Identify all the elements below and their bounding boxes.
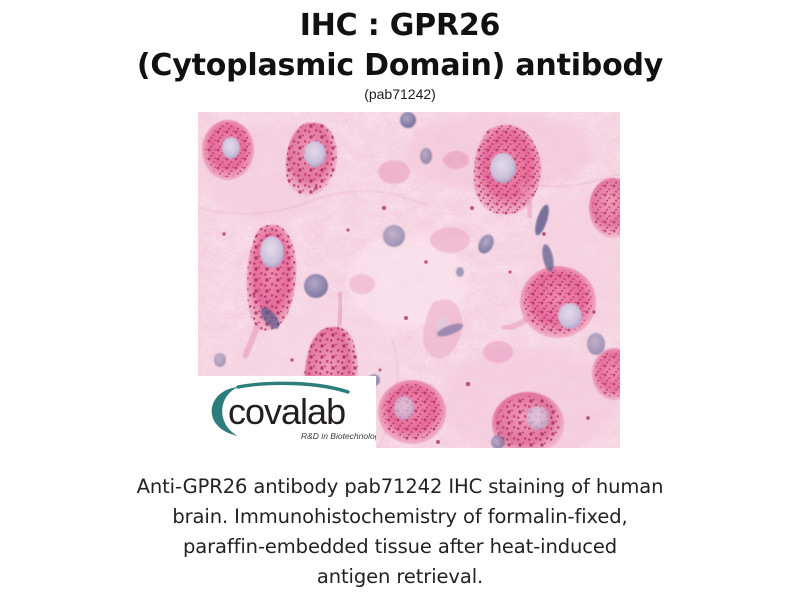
caption-line-2: brain. Immunohistochemistry of formalin-… (100, 502, 700, 532)
page-title-line-2: (Cytoplasmic Domain) antibody (0, 46, 800, 86)
figure-caption: Anti-GPR26 antibody pab71242 IHC stainin… (100, 472, 700, 592)
covalab-wordmark: covalab (228, 391, 345, 432)
title-block: IHC : GPR26 (Cytoplasmic Domain) antibod… (0, 0, 800, 103)
catalog-code: (pab71242) (0, 85, 800, 103)
caption-line-4: antigen retrieval. (100, 562, 700, 592)
caption-line-1: Anti-GPR26 antibody pab71242 IHC stainin… (100, 472, 700, 502)
covalab-logo-graphic: covalab R&D in Biotechnology (198, 376, 376, 448)
covalab-logo: covalab R&D in Biotechnology (198, 376, 376, 448)
page-title-line-1: IHC : GPR26 (0, 0, 800, 46)
caption-line-3: paraffin-embedded tissue after heat-indu… (100, 532, 700, 562)
covalab-tagline: R&D in Biotechnology (301, 431, 376, 441)
